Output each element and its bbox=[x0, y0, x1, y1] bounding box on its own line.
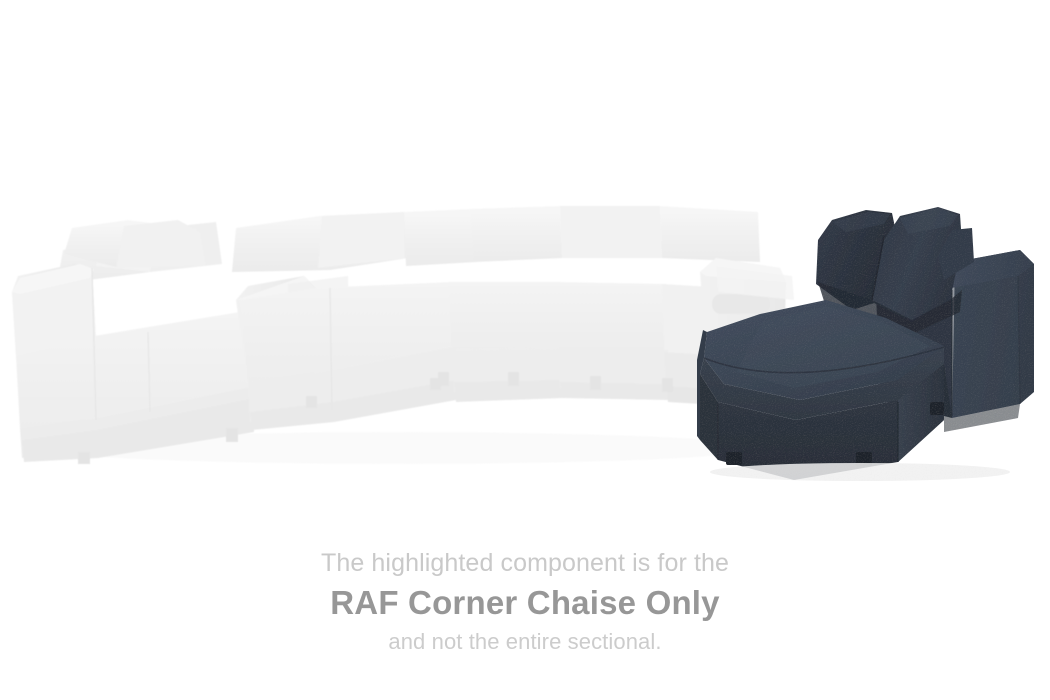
caption-line-1: The highlighted component is for the bbox=[0, 546, 1050, 580]
sectional-illustration bbox=[0, 0, 1050, 520]
chaise-leg-left bbox=[726, 452, 742, 465]
ghost-laf-loveseat bbox=[12, 220, 262, 464]
caption-line-2-product-name: RAF Corner Chaise Only bbox=[0, 580, 1050, 626]
chaise-leg-right bbox=[930, 402, 944, 415]
caption-line-3: and not the entire sectional. bbox=[0, 626, 1050, 657]
product-image-stage: The highlighted component is for the RAF… bbox=[0, 0, 1050, 700]
caption-block: The highlighted component is for the RAF… bbox=[0, 546, 1050, 657]
ghost-sectional bbox=[12, 206, 794, 464]
